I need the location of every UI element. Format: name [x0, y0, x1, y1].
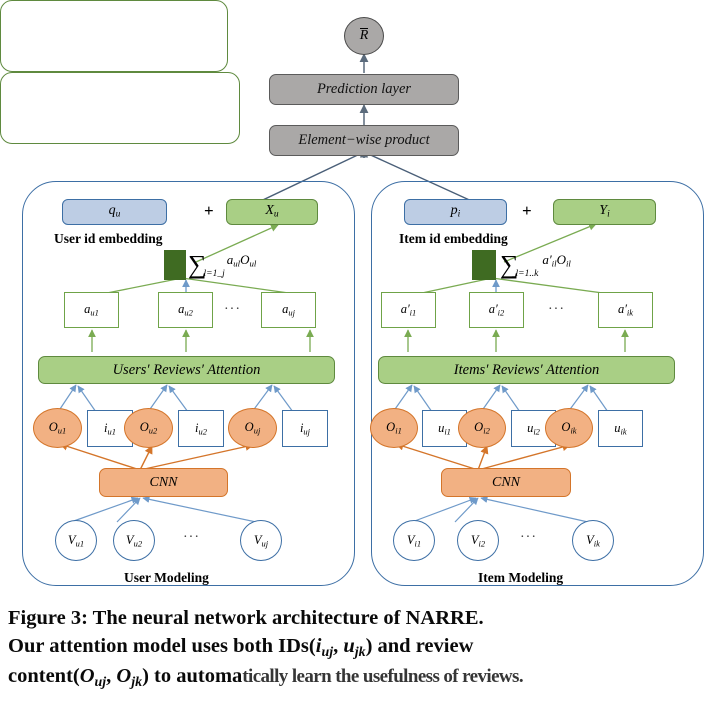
user-weighted-sum-block: [164, 250, 186, 280]
item-review-text-k: Vik: [572, 520, 614, 561]
user-review-feature-2-label: Ou2: [140, 421, 158, 435]
item-id-input-2-label: ui2: [527, 422, 540, 436]
item-review-text-1-label: Vi1: [407, 534, 421, 548]
item-id-embedding-box: pi: [404, 199, 507, 225]
user-review-feature-j-label: Ouj: [245, 421, 261, 435]
caption-line-2: Our attention model uses both IDs(iuj, u…: [8, 632, 716, 662]
item-review-text-ellipsis: ···: [520, 530, 537, 546]
item-review-feature-value: Yi: [599, 204, 609, 220]
item-review-feature-k: Oik: [545, 408, 593, 448]
user-id-input-j: iuj: [282, 410, 328, 447]
user-review-text-2-label: Vu2: [126, 534, 142, 548]
item-attention-weight-k: a′ik: [598, 292, 653, 328]
item-reviews-attention-bar: Items′ Reviews′ Attention: [378, 356, 675, 384]
user-review-text-ellipsis: ···: [183, 530, 200, 546]
user-attention-weight-2: au2: [158, 292, 213, 328]
user-id-input-1-label: iu1: [104, 422, 116, 436]
user-attention-ellipsis: ···: [224, 302, 241, 318]
item-review-feature-1-label: Oi1: [386, 421, 402, 435]
item-modeling-label: Item Modeling: [478, 570, 563, 586]
user-review-feature-value: Xu: [265, 204, 278, 220]
user-reviews-attention-bar: Users′ Reviews′ Attention: [38, 356, 335, 384]
user-attention-weight-2-label: au2: [178, 303, 193, 317]
user-id-input-2-label: iu2: [195, 422, 207, 436]
item-review-feature-2: Oi2: [458, 408, 506, 448]
predicted-rating-node: R: [344, 17, 384, 55]
user-sigma-body: aulOul: [227, 252, 257, 267]
item-attention-weight-2: a′i2: [469, 292, 524, 328]
elementwise-product-label: Element−wise product: [298, 133, 429, 148]
user-id-input-2: iu2: [178, 410, 224, 447]
user-review-text-1-label: Vu1: [68, 534, 84, 548]
user-plus-sign: +: [204, 201, 214, 221]
user-id-embedding-value: qu: [109, 204, 121, 220]
item-weighted-sum-block: [472, 250, 496, 280]
item-review-text-k-label: Vik: [586, 534, 600, 548]
user-review-text-j-label: Vuj: [254, 534, 268, 548]
item-id-embedding-value: pi: [451, 204, 461, 220]
user-review-feature-1-label: Ou1: [49, 421, 67, 435]
user-attention-weight-j: auj: [261, 292, 316, 328]
user-summation-formula: ∑l=1_jaulOul: [188, 250, 257, 280]
item-review-feature-2-label: Oi2: [474, 421, 490, 435]
elementwise-product-block: Element−wise product: [269, 125, 459, 156]
caption-line-1: Figure 3: The neural network architectur…: [8, 604, 716, 632]
item-attention-weight-k-label: a′ik: [618, 303, 633, 317]
item-review-feature-1: Oi1: [370, 408, 418, 448]
user-attention-weight-1: au1: [64, 292, 119, 328]
user-reviews-attention-label: Users′ Reviews′ Attention: [113, 363, 261, 378]
user-id-embedding-box: qu: [62, 199, 167, 225]
user-review-feature-2: Ou2: [124, 408, 173, 448]
user-id-embedding-label: User id embedding: [54, 231, 163, 247]
prediction-layer-block: Prediction layer: [269, 74, 459, 105]
item-sigma-limits: l=1..k: [516, 269, 539, 279]
user-review-text-2: Vu2: [113, 520, 155, 561]
figure-canvas: R Prediction layer Element−wise product …: [0, 0, 724, 711]
user-attention-weight-1-label: au1: [84, 303, 99, 317]
item-id-input-1-label: ui1: [438, 422, 451, 436]
user-review-text-j: Vuj: [240, 520, 282, 561]
caption-line-3: content(Ouj, Ojk) to automatically learn…: [8, 662, 716, 692]
item-review-text-2-label: Vi2: [471, 534, 485, 548]
user-review-feature-j: Ouj: [228, 408, 277, 448]
figure-caption: Figure 3: The neural network architectur…: [8, 604, 716, 693]
item-id-input-k-label: uik: [614, 422, 626, 436]
item-attention-sum-frame: [0, 72, 240, 144]
user-modeling-label: User Modeling: [124, 570, 209, 586]
user-attention-sum-frame: [0, 0, 228, 72]
item-attention-ellipsis: ···: [548, 302, 565, 318]
item-plus-sign: +: [522, 201, 532, 221]
item-id-input-k: uik: [598, 410, 643, 447]
item-attention-weight-1: a′i1: [381, 292, 436, 328]
item-cnn-block: CNN: [441, 468, 571, 497]
user-review-feature-box: Xu: [226, 199, 318, 225]
item-review-feature-k-label: Oik: [561, 421, 576, 435]
item-review-text-2: Vi2: [457, 520, 499, 561]
item-reviews-attention-label: Items′ Reviews′ Attention: [454, 363, 599, 378]
user-cnn-block: CNN: [99, 468, 228, 497]
item-review-feature-box: Yi: [553, 199, 656, 225]
item-review-text-1: Vi1: [393, 520, 435, 561]
user-cnn-label: CNN: [149, 476, 177, 490]
item-id-embedding-label: Item id embedding: [399, 231, 508, 247]
user-sigma-limits: l=1_j: [204, 269, 225, 279]
item-attention-weight-2-label: a′i2: [489, 303, 505, 317]
user-review-text-1: Vu1: [55, 520, 97, 561]
predicted-rating-label: R: [360, 29, 369, 43]
user-id-input-j-label: iuj: [300, 422, 310, 436]
item-sigma-body: a′ilOil: [542, 252, 571, 267]
user-attention-weight-j-label: auj: [282, 303, 295, 317]
item-attention-weight-1-label: a′i1: [401, 303, 417, 317]
prediction-layer-label: Prediction layer: [317, 82, 411, 97]
item-cnn-label: CNN: [492, 476, 520, 490]
caption-garbled-text: tically learn the usefulness of reviews.: [242, 666, 523, 687]
item-summation-formula: ∑l=1..ka′ilOil: [500, 250, 570, 280]
user-review-feature-1: Ou1: [33, 408, 82, 448]
